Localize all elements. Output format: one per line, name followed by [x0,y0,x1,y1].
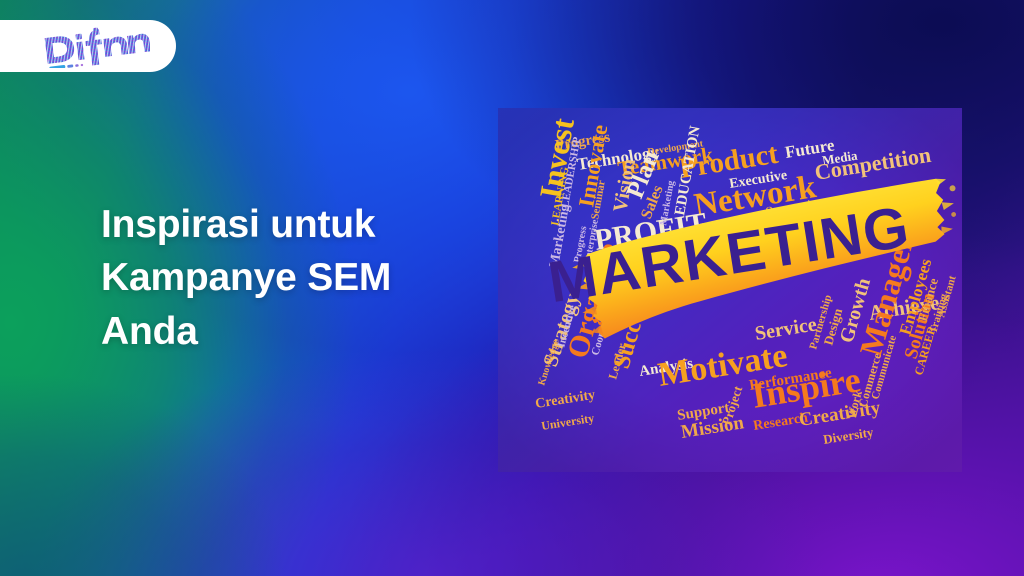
word-cloud-svg: ProgressTechnologyDevelopmentTeamworkPro… [498,108,962,472]
hero-banner: Inspirasi untuk Kampanye SEM Anda [0,0,1024,576]
logo-pill[interactable] [0,20,176,72]
headline-line-1: Inspirasi untuk [101,198,521,251]
marketing-word-cloud-image: ProgressTechnologyDevelopmentTeamworkPro… [498,108,962,472]
page-title: Inspirasi untuk Kampanye SEM Anda [101,198,521,358]
logo-difin[interactable] [40,24,150,68]
headline-line-3: Anda [101,305,521,358]
headline-line-2: Kampanye SEM [101,251,521,304]
logo-icon [40,24,150,68]
